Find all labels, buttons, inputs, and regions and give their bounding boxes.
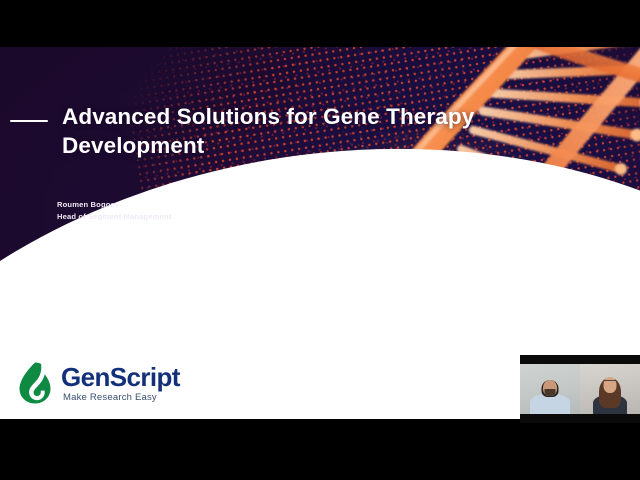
webcam-panel-left[interactable]	[520, 355, 580, 423]
video-player[interactable]: Advanced Solutions for Gene Therapy Deve…	[0, 0, 640, 480]
webcam-right-glasses	[604, 380, 616, 384]
webcam-right-background	[580, 364, 640, 414]
genscript-logo: GenScript Make Research Easy	[16, 361, 180, 405]
letterbox-top	[0, 0, 640, 47]
letterbox-bottom	[0, 419, 640, 480]
webcam-panel-right[interactable]	[580, 355, 640, 423]
title-accent-rule	[10, 120, 48, 122]
slide-title-line-1: Advanced Solutions for Gene Therapy	[62, 102, 562, 131]
webcam-left-torso	[530, 394, 570, 414]
webcam-left-background	[520, 364, 580, 414]
genscript-wordmark: GenScript Make Research Easy	[61, 364, 180, 403]
webcam-left-beard	[545, 389, 556, 396]
speaker-block: Roumen Bogoev Head of Segment Management	[57, 199, 171, 224]
slide-title: Advanced Solutions for Gene Therapy Deve…	[62, 102, 562, 161]
slide-title-line-2: Development	[62, 131, 562, 160]
genscript-tagline: Make Research Easy	[63, 393, 180, 403]
webcam-inset[interactable]	[520, 355, 640, 423]
genscript-word: GenScript	[61, 364, 180, 390]
genscript-leaf-icon	[16, 361, 54, 405]
speaker-role: Head of Segment Management	[57, 211, 171, 223]
speaker-name: Roumen Bogoev	[57, 199, 171, 211]
